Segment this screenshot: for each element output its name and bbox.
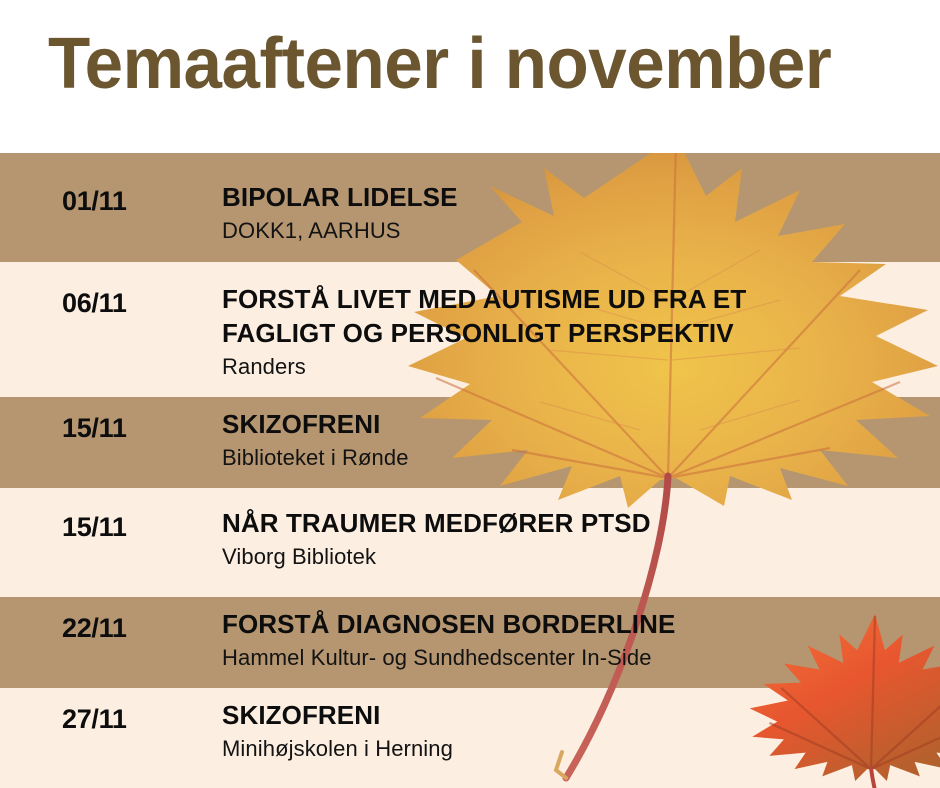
event-row[interactable]: 06/11 FORSTÅ LIVET MED AUTISME UD FRA ET… — [0, 262, 940, 397]
title-band: Temaaftener i november — [0, 0, 940, 153]
event-date: 06/11 — [62, 288, 127, 319]
event-title: FORSTÅ LIVET MED AUTISME UD FRA ET — [222, 282, 932, 316]
event-date: 22/11 — [62, 613, 127, 644]
event-title: FORSTÅ DIAGNOSEN BORDERLINE — [222, 607, 932, 641]
poster-canvas: 01/11 BIPOLAR LIDELSE DOKK1, AARHUS 06/1… — [0, 0, 940, 788]
event-venue: Minihøjskolen i Herning — [222, 735, 932, 764]
page-title: Temaaftener i november — [48, 28, 831, 100]
event-venue: Hammel Kultur- og Sundhedscenter In-Side — [222, 644, 932, 673]
event-date: 27/11 — [62, 704, 127, 735]
event-title: BIPOLAR LIDELSE — [222, 180, 932, 214]
event-row[interactable]: 01/11 BIPOLAR LIDELSE DOKK1, AARHUS — [0, 153, 940, 262]
event-date: 15/11 — [62, 413, 127, 444]
event-date: 01/11 — [62, 186, 127, 217]
event-venue: Viborg Bibliotek — [222, 543, 932, 572]
event-title: SKIZOFRENI — [222, 407, 932, 441]
event-title: SKIZOFRENI — [222, 698, 932, 732]
event-title: NÅR TRAUMER MEDFØRER PTSD — [222, 506, 932, 540]
event-row[interactable]: 27/11 SKIZOFRENI Minihøjskolen i Herning — [0, 688, 940, 788]
event-venue: DOKK1, AARHUS — [222, 217, 932, 246]
event-venue: Randers — [222, 353, 932, 382]
event-date: 15/11 — [62, 512, 127, 543]
event-venue: Biblioteket i Rønde — [222, 444, 932, 473]
event-title-line-2: FAGLIGT OG PERSONLIGT PERSPEKTIV — [222, 316, 932, 350]
event-row[interactable]: 15/11 NÅR TRAUMER MEDFØRER PTSD Viborg B… — [0, 488, 940, 597]
event-row[interactable]: 15/11 SKIZOFRENI Biblioteket i Rønde — [0, 397, 940, 488]
event-row[interactable]: 22/11 FORSTÅ DIAGNOSEN BORDERLINE Hammel… — [0, 597, 940, 688]
